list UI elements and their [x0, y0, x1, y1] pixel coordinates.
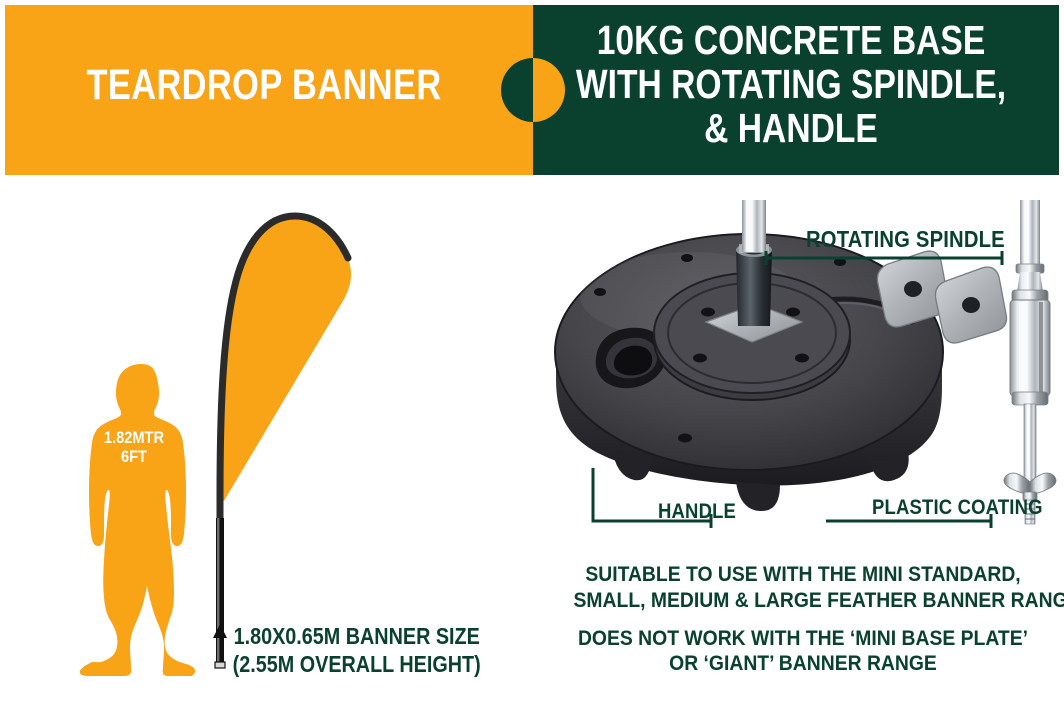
- banner-size-overall-height: (2.55M OVERALL HEIGHT): [232, 650, 481, 678]
- header-right-title: 10KG CONCRETE BASE WITH ROTATING SPINDLE…: [575, 0, 1006, 170]
- compatibility-note-paragraph-1: SUITABLE TO USE WITH THE MINI STANDARD, …: [574, 562, 1033, 614]
- header-right-title-line-3: & HANDLE: [704, 107, 878, 151]
- compatibility-note-p1-line-1: SUITABLE TO USE WITH THE MINI STANDARD,: [574, 562, 1033, 588]
- callout-rotating-spindle: ROTATING SPINDLE: [806, 226, 1005, 253]
- callout-plastic-coating: PLASTIC COATING: [872, 496, 1043, 520]
- callout-handle: HANDLE: [658, 500, 736, 524]
- split-circle-left-half: [501, 58, 533, 122]
- person-height-label: 1.82MTR 6FT: [94, 428, 173, 466]
- compatibility-note-paragraph-2: DOES NOT WORK WITH THE ‘MINI BASE PLATE’…: [574, 626, 1033, 678]
- header-left-title: TEARDROP BANNER: [53, 0, 475, 170]
- product-infographic: TEARDROP BANNER 10KG CONCRETE BASE WITH …: [0, 0, 1064, 710]
- person-height-metric: 1.82MTR: [94, 428, 173, 447]
- header-right-title-line-1: 10KG CONCRETE BASE: [597, 19, 986, 63]
- compatibility-note: SUITABLE TO USE WITH THE MINI STANDARD, …: [548, 562, 1058, 677]
- split-circle-right-half: [533, 58, 565, 122]
- person-height-imperial: 6FT: [94, 447, 173, 466]
- banner-size-dimensions: 1.80X0.65M BANNER SIZE: [232, 622, 481, 650]
- compatibility-note-p2-line-1: DOES NOT WORK WITH THE ‘MINI BASE PLATE’: [574, 626, 1033, 652]
- compatibility-note-p2-line-2: OR ‘GIANT’ BANNER RANGE: [574, 651, 1033, 677]
- person-silhouette-icon: [78, 362, 196, 677]
- banner-size-label: 1.80X0.65M BANNER SIZE (2.55M OVERALL HE…: [232, 622, 481, 678]
- split-circle-divider-icon: [501, 58, 565, 122]
- teardrop-banner-illustration: [188, 196, 388, 690]
- compatibility-note-p1-line-2: SMALL, MEDIUM & LARGE FEATHER BANNER RAN…: [574, 588, 1033, 614]
- header-right-title-line-2: WITH ROTATING SPINDLE,: [576, 63, 1006, 107]
